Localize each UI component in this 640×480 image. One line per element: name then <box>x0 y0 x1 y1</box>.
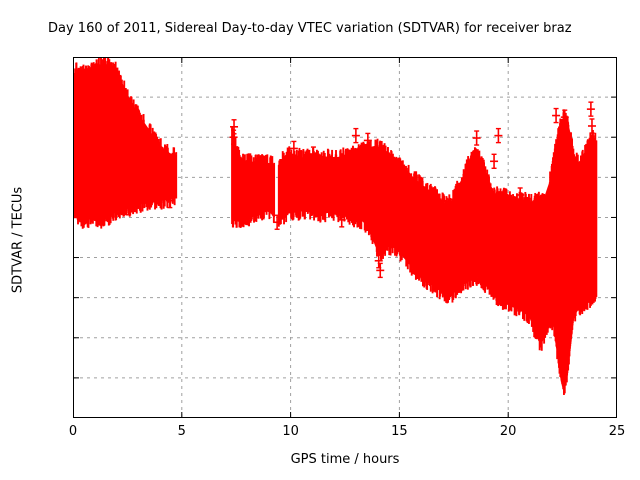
page-title: Day 160 of 2011, Sidereal Day-to-day VTE… <box>48 20 572 38</box>
x-tick-label: 0 <box>69 424 77 439</box>
x-tick-label: 25 <box>609 424 626 439</box>
x-tick-label: 20 <box>500 424 517 439</box>
sdtvar-scatter-chart: Day 160 of 2011, Sidereal Day-to-day VTE… <box>0 0 640 480</box>
x-tick-label: 5 <box>178 424 186 439</box>
x-tick-label: 15 <box>391 424 408 439</box>
data-points <box>73 57 597 395</box>
data-canvas <box>73 57 617 418</box>
y-axis-label: SDTVAR / TECUs <box>11 187 26 293</box>
x-tick-label: 10 <box>282 424 299 439</box>
x-axis-label: GPS time / hours <box>291 452 400 467</box>
plot-area <box>73 57 617 418</box>
